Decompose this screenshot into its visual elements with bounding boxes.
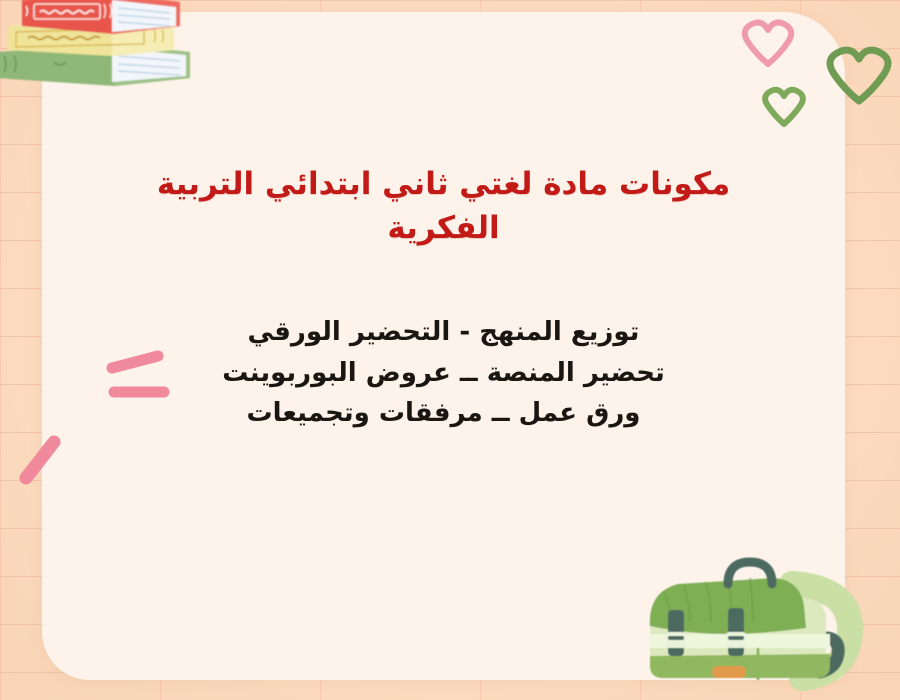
note-card [42, 12, 845, 680]
